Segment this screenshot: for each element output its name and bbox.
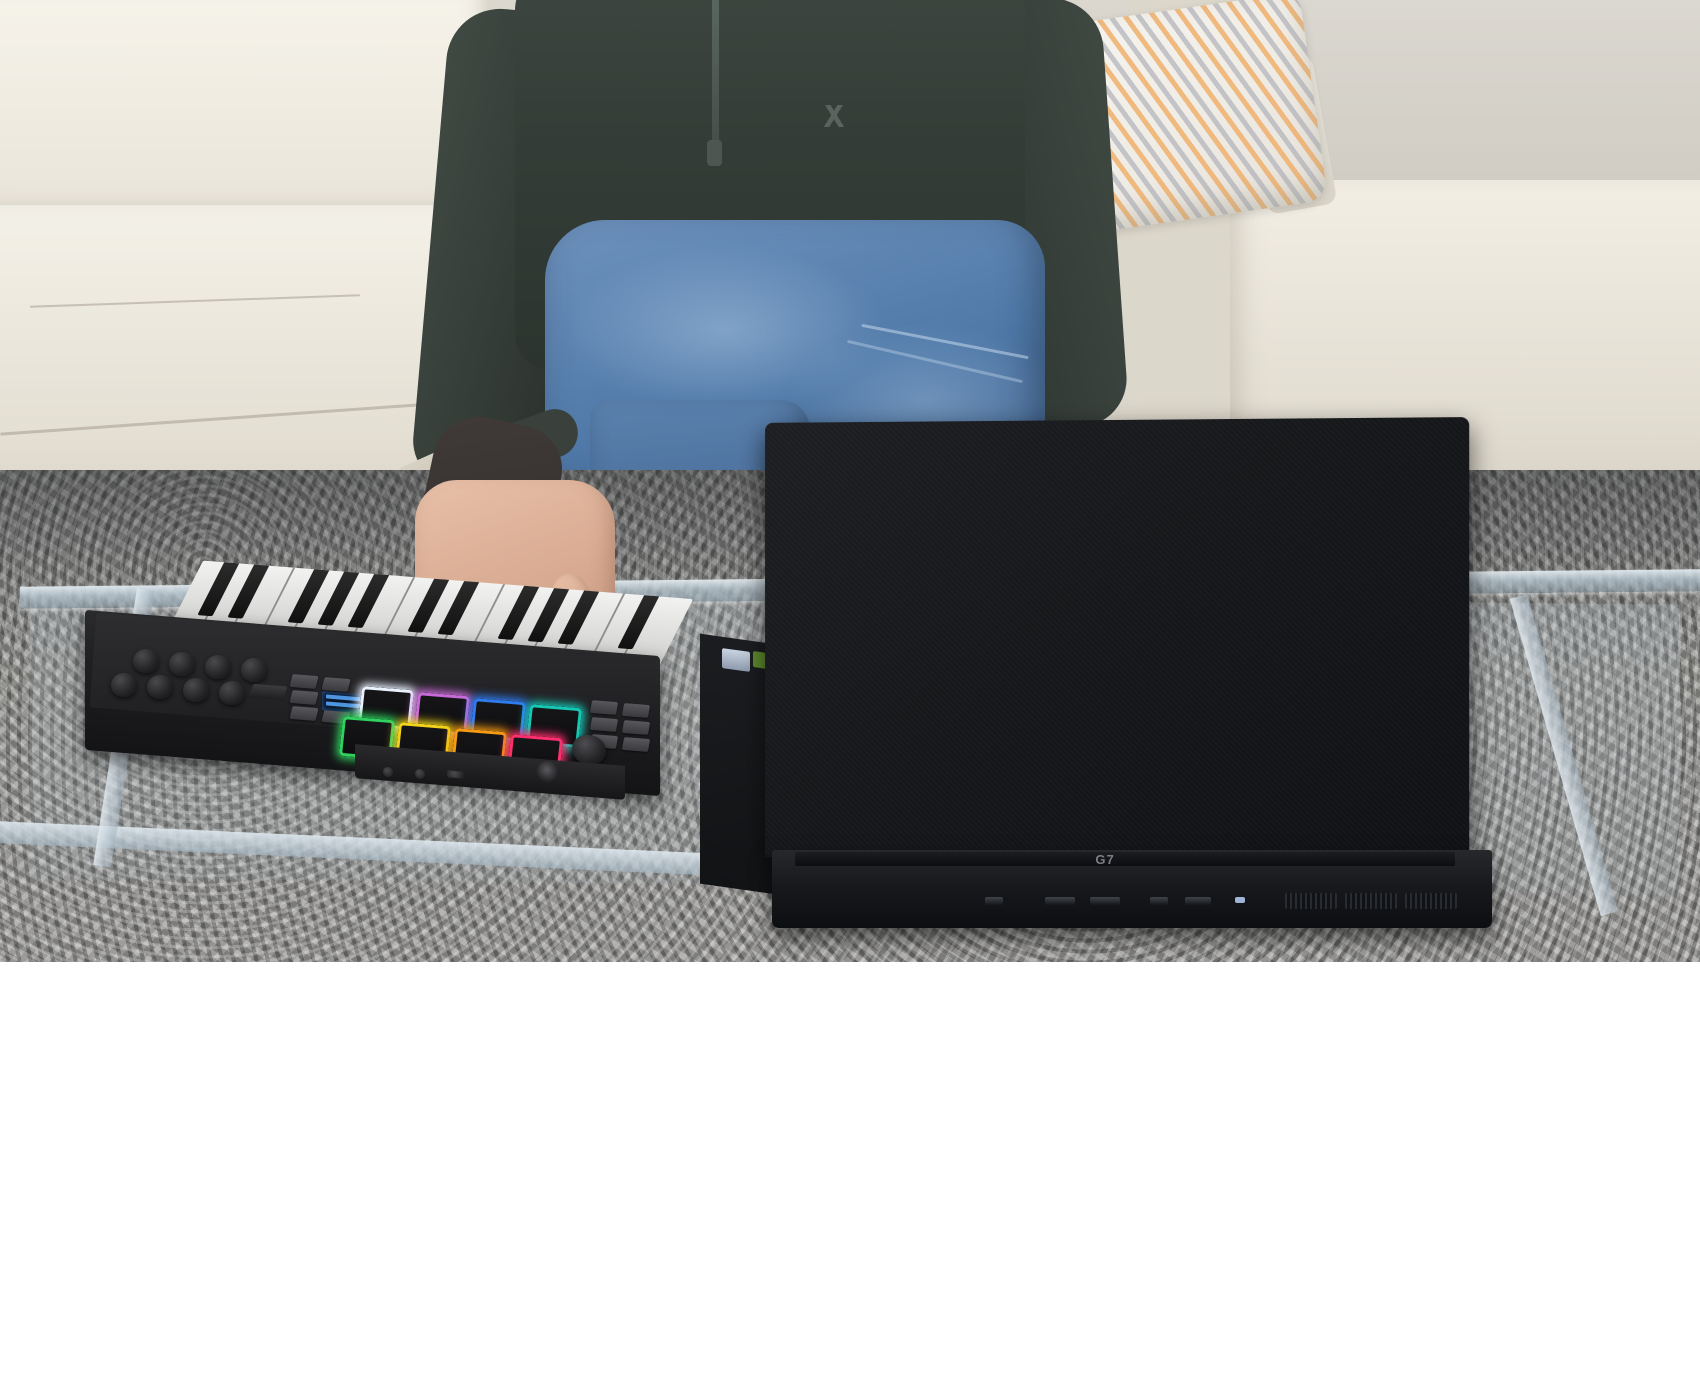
laptop-vent	[1405, 893, 1457, 909]
text-panel: MIDI Over Bluetooth Control Your Music, …	[0, 962, 1700, 1381]
laptop-lid	[765, 417, 1469, 863]
midi-transport-button[interactable]	[622, 703, 650, 718]
feature-card: G7 MIDI Over Bluetooth Control Your Musi…	[0, 0, 1700, 1381]
product-photo: G7	[0, 0, 1700, 962]
midi-keyboard-controller	[85, 575, 660, 810]
zipper-pull	[707, 140, 722, 166]
midi-knob[interactable]	[133, 649, 159, 673]
midi-button[interactable]	[289, 674, 318, 689]
laptop-vent	[1285, 893, 1337, 909]
sofa-cushion-left	[0, 0, 490, 220]
midi-knob[interactable]	[219, 681, 245, 705]
midi-button[interactable]	[289, 706, 318, 721]
laptop-port[interactable]	[985, 897, 1003, 905]
midi-port[interactable]	[415, 769, 425, 780]
laptop-vent	[1345, 893, 1397, 909]
midi-transport-button[interactable]	[622, 737, 650, 752]
sofa-backrest-right	[1280, 0, 1700, 210]
midi-button[interactable]	[289, 690, 318, 705]
midi-usb-port[interactable]	[447, 770, 465, 778]
laptop-port[interactable]	[1150, 897, 1168, 905]
midi-knob[interactable]	[205, 655, 231, 679]
midi-knob[interactable]	[111, 673, 137, 697]
midi-fader[interactable]	[248, 684, 287, 700]
midi-knob[interactable]	[169, 652, 195, 676]
midi-transport-button[interactable]	[590, 700, 618, 715]
laptop-status-led	[1235, 897, 1245, 903]
midi-knob[interactable]	[147, 675, 173, 699]
midi-button[interactable]	[321, 677, 350, 692]
midi-knob[interactable]	[241, 658, 267, 682]
laptop-model-badge: G7	[1075, 852, 1135, 868]
pullover-zipper	[712, 0, 719, 150]
midi-knob[interactable]	[183, 678, 209, 702]
midi-transport-button[interactable]	[622, 720, 650, 735]
laptop-port[interactable]	[1090, 897, 1120, 905]
midi-transport-button[interactable]	[590, 717, 618, 732]
laptop-port[interactable]	[1045, 897, 1075, 905]
laptop-sticker	[722, 648, 750, 672]
midi-port[interactable]	[383, 767, 393, 778]
pullover-logo-icon	[820, 105, 848, 127]
laptop-port[interactable]	[1185, 897, 1211, 905]
